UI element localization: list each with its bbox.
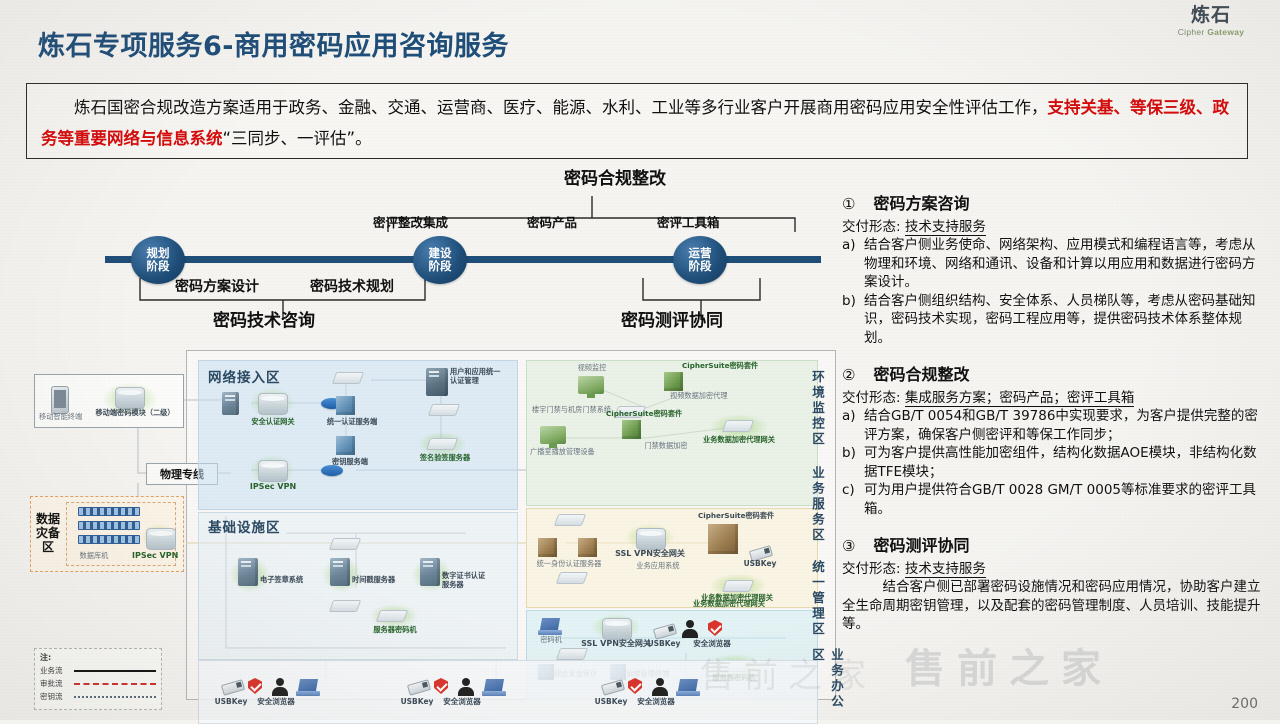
net-switch-right-icon <box>428 404 460 416</box>
office-laptop-icon-2 <box>676 679 700 696</box>
service-sections: ① 密码方案咨询 交付形态: 技术支持服务 a) 结合客户侧业务使命、网络架构、… <box>842 190 1262 648</box>
section-3-delivery-value: 技术支持服务 <box>905 561 986 578</box>
timeline-sub-2: 密评工具箱 <box>657 212 720 231</box>
office-usbkey-label-1: USBKey <box>398 698 436 707</box>
logo-chinese-text: 炼石 <box>1156 6 1266 25</box>
phase-timeline: 密码合规整改 密评整改集成 密码产品 密评工具箱 规划 阶段 建设 阶段 运营 … <box>95 168 835 343</box>
section-3-delivery-label: 交付形态: <box>842 561 901 577</box>
biz-switch2-icon <box>556 572 588 584</box>
timeline-mid-0: 密码方案设计 <box>175 276 259 296</box>
eseal-label: 电子签章系统 <box>260 576 310 585</box>
mgmt-switch-icon <box>556 648 588 660</box>
intro-paragraph: 炼石国密合规改造方案适用于政务、金融、交通、运营商、医疗、能源、水利、工业等多行… <box>41 92 1233 154</box>
node-planning-line2: 阶段 <box>147 260 170 273</box>
timeline-node-construction[interactable]: 建设 阶段 <box>413 236 467 284</box>
section-2-title: 密码合规整改 <box>873 361 969 385</box>
user-app-auth-label: 用户和应用统一认证管理 <box>450 368 506 385</box>
section-1-header: ① 密码方案咨询 <box>842 190 1262 214</box>
mobile-terminal-label: 移动智能终端 <box>39 413 81 422</box>
logo-english-text: Cipher Gateway <box>1156 27 1266 37</box>
key-server-icon <box>336 436 355 455</box>
legend-row-1: 审批流 <box>40 677 156 690</box>
timeline-bottom-1: 密码测评协同 <box>621 306 723 331</box>
env-monitor-label: 视频监控 <box>566 364 618 373</box>
section-1-delivery-label: 交付形态: <box>842 219 901 235</box>
eseal-server-icon <box>238 558 258 586</box>
mobile-terminal-box: 移动智能终端 移动端密码模块（二级） <box>34 374 184 428</box>
section-3-paragraph: 结合客户侧已部署密码设施情况和密码应用情况，协助客户建立全生命周期密钥管理，以及… <box>842 578 1262 634</box>
vtitle-unified-mgmt: 统一管理区 <box>808 560 827 638</box>
biz-suite-label: CipherSuite密码套件 <box>698 512 762 521</box>
env-video-proxy-label: 视频数据加密代理 <box>670 392 726 401</box>
infra-switch-top-icon <box>329 538 361 550</box>
env-broadcast-icon <box>540 426 566 444</box>
section-2-header: ② 密码合规整改 <box>842 361 1262 385</box>
biz-suite-icon <box>708 524 738 554</box>
logo-en-cipher: Cipher <box>1178 27 1205 37</box>
legend-title: 注: <box>40 652 156 663</box>
dr-db-label: 数据库机 <box>70 552 118 561</box>
net-router-2-icon <box>321 465 343 476</box>
mgmt-sslvpn-label: SSL VPN安全网关 <box>578 640 654 649</box>
logo-en-gateway: Gateway <box>1207 27 1244 37</box>
env-suite1-icon <box>664 372 683 391</box>
mgmt-browser-label: 安全浏览器 <box>688 640 736 649</box>
mobile-phone-icon <box>51 386 69 414</box>
section-2: ② 密码合规整改 交付形态: 集成服务方案；密码产品；密评工具箱 a) 结合GB… <box>842 361 1262 518</box>
section-2-item-b-text: 可为客户提供高性能加密组件，结构化数据AOE模块，非结构化数据TFE模块； <box>864 444 1262 481</box>
node-operation-line2: 阶段 <box>689 260 712 273</box>
auth-gateway-label: 安全认证网关 <box>244 418 302 427</box>
office-browser-label-2: 安全浏览器 <box>632 698 680 707</box>
section-1-item-a-mark: a) <box>842 236 858 292</box>
section-3-number: ③ <box>842 537 855 555</box>
office-laptop-icon-0 <box>296 679 320 696</box>
diagram-legend: 注: 业务流 审批流 密钥流 <box>34 648 162 710</box>
auth-gateway-icon <box>258 393 288 415</box>
db-rack-row-1 <box>78 507 140 516</box>
section-3: ③ 密码测评协同 交付形态: 技术支持服务 结合客户侧已部署密码设施情况和密码应… <box>842 532 1262 634</box>
office-usbkey-label-0: USBKey <box>212 698 250 707</box>
page-title: 炼石专项服务6-商用密码应用咨询服务 <box>38 24 509 63</box>
section-2-item-a-mark: a) <box>842 407 858 444</box>
disaster-recovery-title: 数据灾备区 <box>34 498 62 568</box>
env-suite2-icon <box>622 420 641 439</box>
timeline-mid-1: 密码技术规划 <box>310 276 394 296</box>
vtitle-env-monitor: 环境监控区 <box>808 370 827 448</box>
office-person-icon-2 <box>652 678 668 696</box>
page-number: 200 <box>1231 696 1258 712</box>
section-3-header: ③ 密码测评协同 <box>842 532 1262 556</box>
timeline-sub-1: 密码产品 <box>527 212 577 231</box>
biz-sslvpn-label: SSL VPN安全网关 <box>614 550 686 559</box>
db-rack-row-3 <box>78 535 140 544</box>
office-person-icon-0 <box>272 678 288 696</box>
infra-hsm-label: 服务器密码机 <box>364 626 426 635</box>
office-laptop-icon-1 <box>482 679 506 696</box>
office-usbkey-label-2: USBKey <box>592 698 630 707</box>
biz-switch-icon <box>554 514 586 526</box>
section-1-item-b-text: 结合客户侧组织结构、安全体系、人员梯队等，考虑从密码基础知识，密码技术实现，密码… <box>864 292 1262 348</box>
user-app-auth-icon <box>426 368 448 396</box>
legend-label-0: 业务流 <box>40 665 70 676</box>
dr-vpn-label: IPSec VPN <box>132 552 178 561</box>
mgmt-host-icon <box>538 618 562 635</box>
office-person-icon-1 <box>458 678 474 696</box>
mobile-module-label: 移动端密码模块（二级） <box>91 409 179 418</box>
db-rack-row-2 <box>78 521 140 530</box>
sign-verify-server-label: 签名验签服务器 <box>414 454 476 463</box>
key-server-label: 密钥服务端 <box>324 458 376 467</box>
net-switch-top-icon <box>332 372 364 384</box>
unified-auth-server-icon <box>336 396 355 415</box>
timestamp-server-icon <box>330 558 350 586</box>
legend-line-solid <box>74 670 156 672</box>
biz-usbkey-label: USBKey <box>742 560 778 569</box>
section-2-item-b-mark: b) <box>842 444 858 481</box>
section-2-item-a: a) 结合GB/T 0054和GB/T 39786中实现要求，为客户提供完整的密… <box>842 407 1262 444</box>
biz-sys-label: 业务应用系统 <box>630 562 686 571</box>
section-1-delivery: 交付形态: 技术支持服务 <box>842 215 1262 235</box>
mgmt-sslvpn-icon <box>602 618 632 640</box>
timeline-sub-0: 密评整改集成 <box>373 212 448 231</box>
mgmt-hsm-host-label: 密码机 <box>534 636 568 645</box>
section-2-delivery-label: 交付形态: <box>842 390 901 406</box>
intro-box: 炼石国密合规改造方案适用于政务、金融、交通、运营商、医疗、能源、水利、工业等多行… <box>26 83 1248 159</box>
ipsec-vpn-label: IPSec VPN <box>244 483 302 492</box>
biz-data-gw-icon <box>722 580 754 592</box>
biz-app-server-1-icon <box>538 538 557 557</box>
mgmt-usbkey-label: USBKey <box>644 640 684 649</box>
section-2-item-a-text: 结合GB/T 0054和GB/T 39786中实现要求，为客户提供完整的密评方案… <box>864 407 1262 444</box>
biz-app-servers-label: 统一身份认证服务器 <box>534 560 604 569</box>
env-suite2-label: CipherSuite密码套件 <box>606 410 670 419</box>
section-1-item-b: b) 结合客户侧组织结构、安全体系、人员梯队等，考虑从密码基础知识，密码技术实现… <box>842 292 1262 348</box>
legend-row-0: 业务流 <box>40 664 156 677</box>
env-data-gw-label: 业务数据加密代理网关 <box>702 436 776 445</box>
legend-label-1: 审批流 <box>40 678 70 689</box>
section-1-item-a-text: 结合客户侧业务使命、网络架构、应用模式和编程语言等，考虑从物理和环境、网络和通讯… <box>864 236 1262 292</box>
env-access-control-label: 楼宇门禁与机房门禁系统 <box>532 406 590 415</box>
legend-label-2: 密钥流 <box>40 691 70 702</box>
section-1: ① 密码方案咨询 交付形态: 技术支持服务 a) 结合客户侧业务使命、网络架构、… <box>842 190 1262 347</box>
mgmt-data-gw-label: 业务数据加密代理网关 <box>692 600 766 609</box>
dr-vpn-icon <box>146 528 176 550</box>
env-broadcast-label: 广播室播放管理设备 <box>530 448 588 457</box>
biz-app-server-2-icon <box>578 538 597 557</box>
ca-label: 数字证书认证服务器 <box>442 572 490 589</box>
timeline-node-operation[interactable]: 运营 阶段 <box>673 236 727 284</box>
mgmt-person-icon <box>682 620 698 638</box>
env-door-data-label: 门禁数据加密 <box>642 442 690 451</box>
section-2-item-c-mark: c) <box>842 481 858 518</box>
sign-verify-server-icon <box>426 438 458 450</box>
zone-network-access-title: 网络接入区 <box>208 366 281 386</box>
biz-sslvpn-icon <box>636 528 666 550</box>
slide-page: 炼石 Cipher Gateway 炼石专项服务6-商用密码应用咨询服务 炼石国… <box>0 0 1280 720</box>
intro-part1: 炼石国密合规改造方案适用于政务、金融、交通、运营商、医疗、能源、水利、工业等多行… <box>74 98 1048 117</box>
section-2-item-b: b) 可为客户提供高性能加密组件，结构化数据AOE模块，非结构化数据TFE模块； <box>842 444 1262 481</box>
section-3-title: 密码测评协同 <box>873 532 969 556</box>
net-edge-server-icon <box>222 392 239 415</box>
section-2-item-c-text: 可为用户提供符合GB/T 0028 GM/T 0005等标准要求的密评工具箱。 <box>864 481 1262 518</box>
infra-switch-bottom-icon <box>329 600 361 612</box>
section-1-item-a: a) 结合客户侧业务使命、网络架构、应用模式和编程语言等，考虑从物理和环境、网络… <box>842 236 1262 292</box>
section-3-delivery: 交付形态: 技术支持服务 <box>842 557 1262 577</box>
section-2-number: ② <box>842 366 855 384</box>
office-browser-label-0: 安全浏览器 <box>252 698 300 707</box>
section-2-item-c: c) 可为用户提供符合GB/T 0028 GM/T 0005等标准要求的密评工具… <box>842 481 1262 518</box>
legend-line-dotted <box>74 696 156 698</box>
zone-business-office <box>198 660 818 724</box>
section-1-number: ① <box>842 195 855 213</box>
mobile-crypto-module-icon <box>115 387 145 409</box>
section-2-delivery-value: 集成服务方案；密码产品；密评工具箱 <box>905 390 1135 407</box>
section-2-delivery: 交付形态: 集成服务方案；密码产品；密评工具箱 <box>842 386 1262 406</box>
zone-infrastructure-title: 基础设施区 <box>208 516 281 536</box>
section-1-title: 密码方案咨询 <box>873 190 969 214</box>
ipsec-vpn-icon <box>258 460 288 482</box>
unified-auth-server-label: 统一认证服务端 <box>322 418 382 427</box>
node-construction-line2: 阶段 <box>429 260 452 273</box>
ca-server-icon <box>420 558 440 586</box>
env-suite1-label: CipherSuite密码套件 <box>682 362 746 371</box>
infra-hsm-icon <box>376 610 408 622</box>
legend-row-2: 密钥流 <box>40 690 156 703</box>
brand-logo: 炼石 Cipher Gateway <box>1156 6 1266 37</box>
legend-line-dashed <box>74 683 156 685</box>
env-data-gw-icon <box>722 420 754 432</box>
intro-part2: “三同步、一评估”。 <box>223 129 372 148</box>
section-1-item-b-mark: b) <box>842 292 858 348</box>
section-1-delivery-value: 技术支持服务 <box>905 219 986 236</box>
vtitle-business-service: 业务服务区 <box>808 466 827 544</box>
timestamp-label: 时间戳服务器 <box>352 576 404 585</box>
env-monitor-screen-icon <box>578 376 604 394</box>
timeline-bottom-0: 密码技术咨询 <box>213 306 315 331</box>
office-browser-label-1: 安全浏览器 <box>438 698 486 707</box>
vtitle-business-office: 业务办公区 <box>808 648 846 710</box>
